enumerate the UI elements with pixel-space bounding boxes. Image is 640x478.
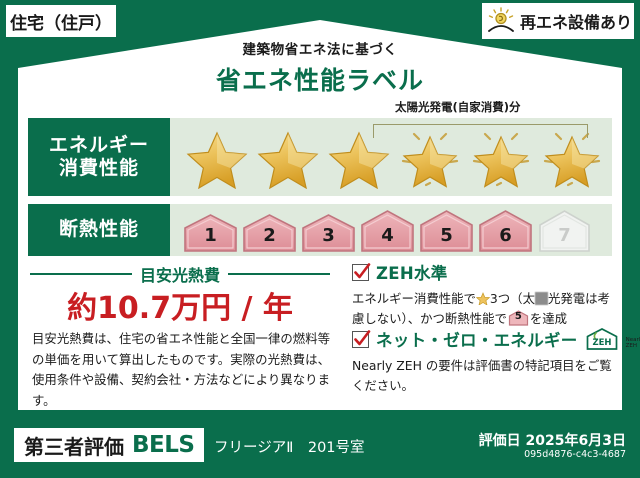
page-title: 省エネ性能ラベル	[0, 61, 640, 97]
sun-solar-icon	[486, 7, 516, 35]
bels-badge: 第三者評価 BELS	[14, 428, 204, 462]
zeh-standard-body-part2: 3つ（太	[490, 291, 535, 306]
insulation-level-number: 7	[558, 225, 571, 253]
check-icon	[352, 331, 369, 348]
insulation-level-badge-icon: 5	[508, 310, 529, 326]
svg-text:ZEH: ZEH	[592, 338, 611, 348]
evaluation-date: 評価日 2025年6月3日	[479, 430, 626, 450]
insulation-level-house: 5	[418, 207, 475, 253]
zeh-net-block: ネット・ゼロ・エネルギー ZEH Nearly ZEH Nearly ZEH の…	[352, 327, 618, 396]
energy-performance-row-value	[170, 118, 612, 196]
evaluation-id: 095d4876-c4c3-4687	[524, 449, 626, 460]
zeh-standard-block: ZEH水準 エネルギー消費性能で3つ（太光発電は考慮しない）、かつ断熱性能で5を…	[352, 260, 618, 329]
insulation-performance-row: 断熱性能 1 2	[28, 204, 612, 256]
solar-portion-caption: 太陽光発電(自家消費)分	[395, 99, 521, 115]
insulation-level-badge-number: 5	[508, 310, 529, 326]
energy-performance-row: エネルギー 消費性能	[28, 118, 612, 196]
insulation-performance-row-value: 1 2 3	[170, 204, 612, 256]
zeh-standard-body-part4: を達成	[530, 311, 567, 326]
column-divider	[342, 262, 343, 404]
insulation-level-house: 6	[477, 207, 534, 253]
insulation-label: 断熱性能	[59, 218, 139, 241]
zeh-standard-title: ZEH水準	[376, 260, 448, 284]
insulation-level-number: 5	[440, 225, 453, 253]
energy-performance-row-label: エネルギー 消費性能	[28, 118, 170, 196]
zeh-standard-body: エネルギー消費性能で3つ（太光発電は考慮しない）、かつ断熱性能で5を達成	[352, 289, 618, 329]
dwelling-type-tag: 住宅（住戸）	[6, 5, 116, 37]
solar-portion-bracket	[373, 124, 588, 138]
title-block: 建築物省エネ法に基づく 省エネ性能ラベル	[0, 38, 640, 97]
zeh-net-title-row: ネット・ゼロ・エネルギー ZEH Nearly ZEH	[352, 327, 618, 351]
insulation-level-house: 3	[300, 211, 357, 253]
renewable-equipment-label: 再エネ設備あり	[520, 9, 632, 33]
insulation-level-number: 4	[381, 225, 394, 253]
rule-right	[228, 273, 330, 275]
bels-logo-text: BELS	[132, 432, 194, 458]
energy-label-line1: エネルギー	[49, 134, 149, 157]
zeh-logo-caption: Nearly ZEH	[626, 337, 640, 351]
insulation-level-house: 4	[359, 207, 416, 253]
energy-label-line2: 消費性能	[59, 157, 139, 180]
zeh-net-title: ネット・ゼロ・エネルギー	[376, 327, 578, 351]
insulation-level-number: 3	[322, 225, 335, 253]
footer-bar: 第三者評価 BELS フリージアⅡ 201号室 評価日 2025年6月3日 09…	[0, 416, 640, 478]
star-icon	[253, 125, 323, 189]
energy-performance-label: 住宅（住戸） 再エネ設備あり 建築物省エネ法に基づく 省エネ性能ラベル 太陽	[0, 0, 640, 478]
check-icon	[352, 264, 369, 281]
bels-japanese-label: 第三者評価	[24, 431, 124, 460]
zeh-standard-body-part1: エネルギー消費性能で	[352, 291, 476, 306]
insulation-level-house: 2	[241, 211, 298, 253]
zeh-net-body: Nearly ZEH の要件は評価書の特記項目をご覧ください。	[352, 356, 618, 396]
estimated-utility-cost-note: 目安光熱費は、住宅の省エネ性能と全国一律の燃料等の単価を用いて算出したものです。…	[32, 329, 330, 411]
zeh-house-logo: ZEH	[585, 327, 619, 351]
renewable-equipment-tag: 再エネ設備あり	[482, 3, 634, 39]
redacted-character	[535, 292, 548, 305]
insulation-level-house-empty: 7	[536, 207, 593, 253]
insulation-level-scale: 1 2 3	[182, 207, 593, 253]
dwelling-type-label: 住宅（住戸）	[10, 9, 112, 34]
title-subtitle: 建築物省エネ法に基づく	[0, 38, 640, 58]
star-icon	[476, 291, 490, 304]
insulation-level-number: 1	[204, 225, 217, 253]
star-icon	[182, 125, 252, 189]
insulation-level-house: 1	[182, 211, 239, 253]
insulation-level-number: 2	[263, 225, 276, 253]
insulation-performance-row-label: 断熱性能	[28, 204, 170, 256]
rule-left	[30, 273, 132, 275]
zeh-standard-title-row: ZEH水準	[352, 260, 618, 284]
insulation-level-number: 6	[499, 225, 512, 253]
estimated-utility-cost-value: 約10.7万円 / 年	[30, 283, 330, 327]
property-unit-name: フリージアⅡ 201号室	[214, 436, 365, 457]
